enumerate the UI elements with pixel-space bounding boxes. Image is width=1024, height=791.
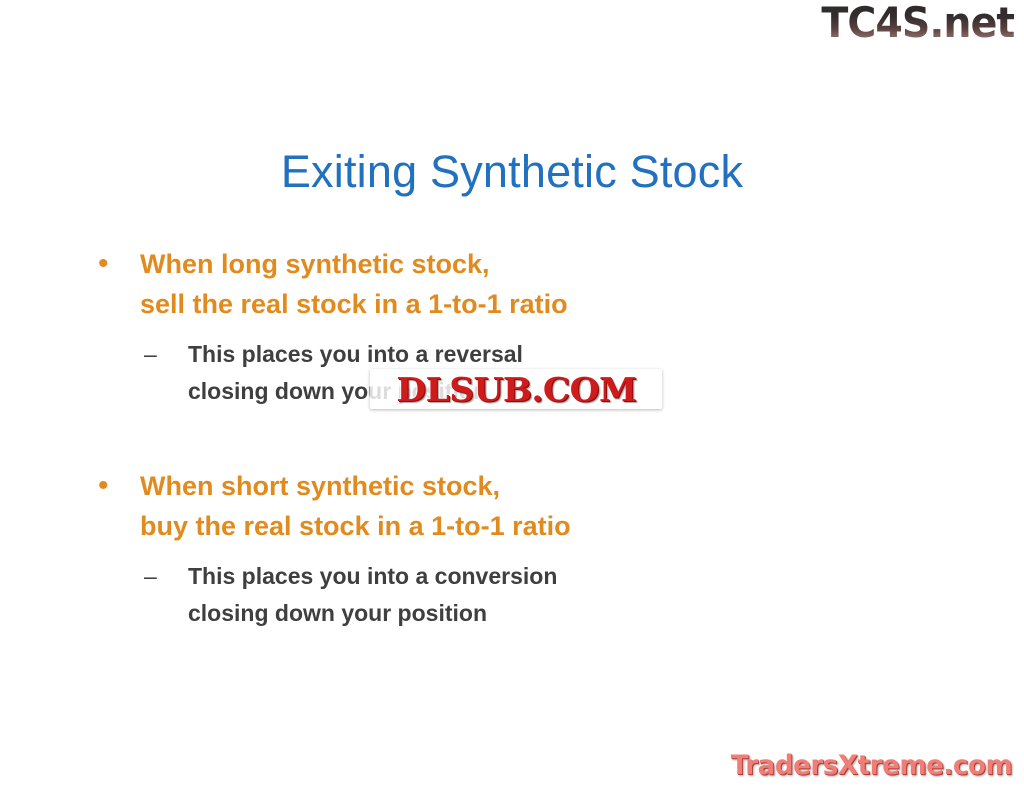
- dash-bullet-icon: –: [144, 336, 157, 373]
- page-title: Exiting Synthetic Stock: [0, 146, 1024, 198]
- bullet-dot-icon: •: [98, 244, 109, 284]
- presentation-slide: TC4S.net Exiting Synthetic Stock • When …: [0, 0, 1024, 791]
- list-item-label: When short synthetic stock, buy the real…: [140, 471, 571, 541]
- tradersxtreme-site-logo: TradersXtreme.com: [730, 752, 1012, 779]
- sub-list-item: – This places you into a conversion clos…: [92, 558, 932, 632]
- dash-bullet-icon: –: [144, 558, 157, 595]
- bullet-block: • When short synthetic stock, buy the re…: [92, 466, 932, 632]
- list-item: • When long synthetic stock, sell the re…: [92, 244, 932, 324]
- slide-body: • When long synthetic stock, sell the re…: [92, 244, 932, 632]
- dlsub-watermark-label: DLSUB.COM: [396, 373, 636, 406]
- tc4s-brand-logo: TC4S.net: [821, 2, 1014, 44]
- bullet-dot-icon: •: [98, 466, 109, 506]
- list-item-label: When long synthetic stock, sell the real…: [140, 249, 568, 319]
- dlsub-watermark: DLSUB.COM: [370, 369, 662, 409]
- sub-list-item-label: This places you into a conversion closin…: [188, 563, 557, 626]
- list-item: • When short synthetic stock, buy the re…: [92, 466, 932, 546]
